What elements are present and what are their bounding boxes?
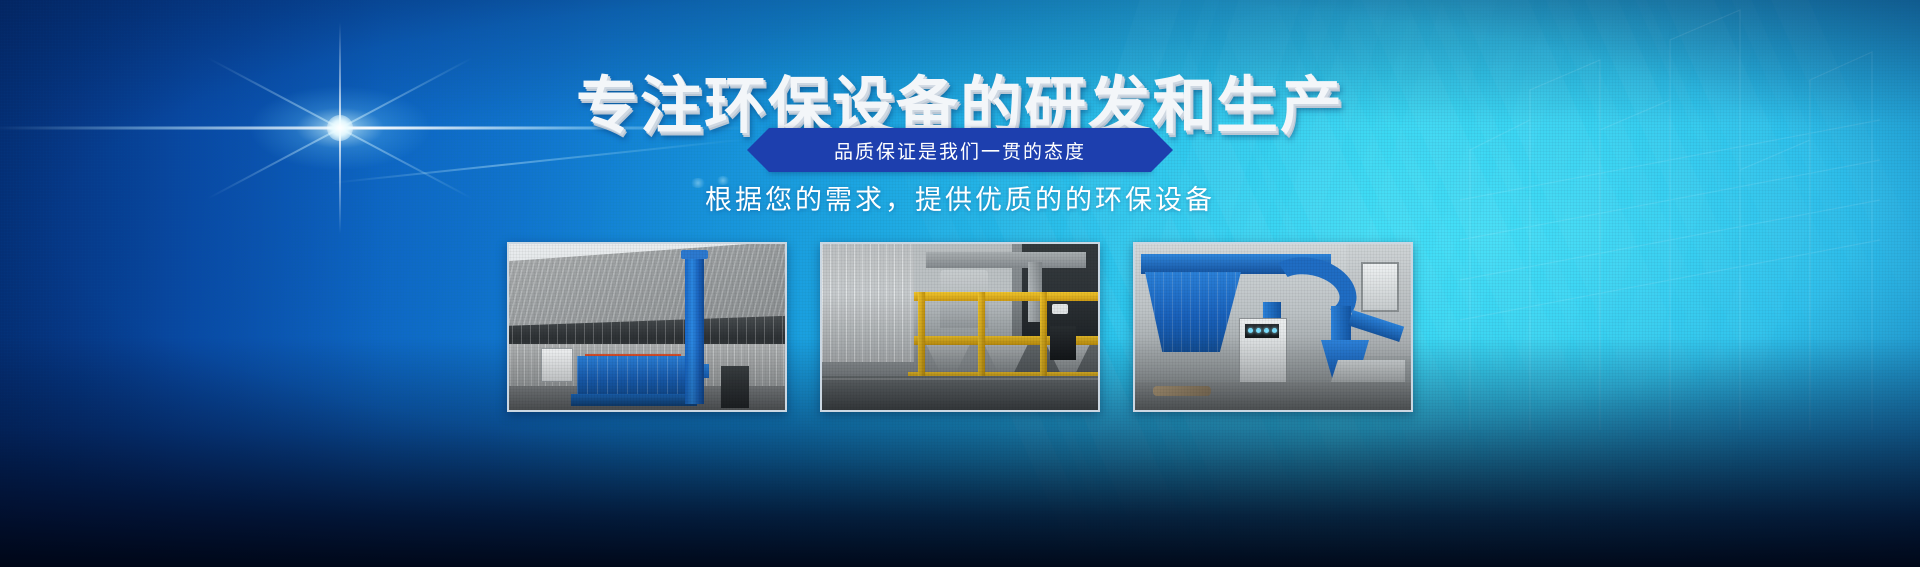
photo-strip: [0, 242, 1920, 414]
promo-banner: 专注环保设备的研发和生产 品质保证是我们一贯的态度 根据您的需求，提供优质的的环…: [0, 0, 1920, 567]
banner-content: 专注环保设备的研发和生产 品质保证是我们一贯的态度 根据您的需求，提供优质的的环…: [0, 0, 1920, 567]
photo-texture-3: [1135, 244, 1411, 410]
photo-plant-interior-yellow-railing[interactable]: [820, 242, 1100, 412]
ribbon-notch-left: [769, 128, 791, 172]
photo-blue-cyclone-duct-equipment[interactable]: [1133, 242, 1413, 412]
ribbon-label: 品质保证是我们一贯的态度: [834, 137, 1086, 164]
banner-tagline: 根据您的需求，提供优质的的环保设备: [0, 178, 1920, 217]
ribbon-container: 品质保证是我们一贯的态度: [0, 128, 1920, 172]
ribbon-notch-right: [1129, 128, 1151, 172]
photo-texture-1: [509, 244, 785, 410]
photo-texture-2: [822, 244, 1098, 410]
ribbon-banner: 品质保证是我们一贯的态度: [769, 128, 1151, 172]
photo-factory-exterior-scrubber[interactable]: [507, 242, 787, 412]
